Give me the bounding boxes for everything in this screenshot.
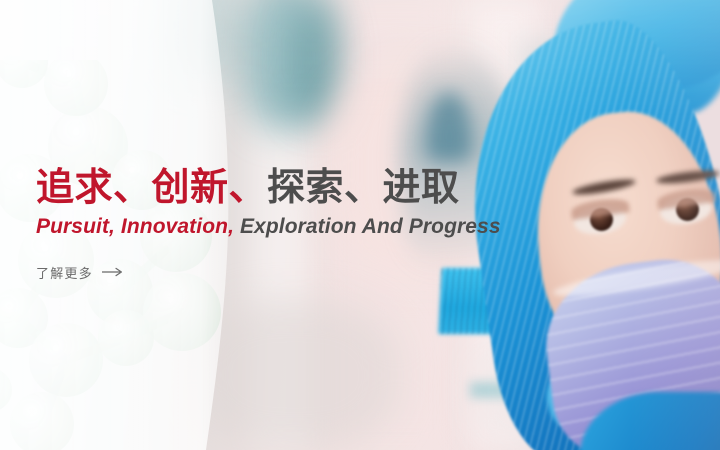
banner-copy: 追求、创新、探索、进取 Pursuit, Innovation, Explora…	[36, 168, 596, 283]
hero-banner: 追求、创新、探索、进取 Pursuit, Innovation, Explora…	[0, 0, 720, 450]
page-subtitle: Pursuit, Innovation, Exploration And Pro…	[36, 215, 596, 239]
headline-red-text: 追求、创新、	[36, 167, 267, 209]
headline-gray-text: 探索、进取	[267, 167, 460, 209]
subheadline-gray-text: Exploration And Progress	[234, 215, 501, 238]
subheadline-red-text: Pursuit, Innovation,	[36, 215, 234, 238]
arrow-right-icon	[102, 267, 124, 277]
learn-more-link[interactable]: 了解更多	[36, 263, 124, 282]
learn-more-label: 了解更多	[36, 263, 93, 282]
page-title: 追求、创新、探索、进取	[36, 168, 596, 209]
